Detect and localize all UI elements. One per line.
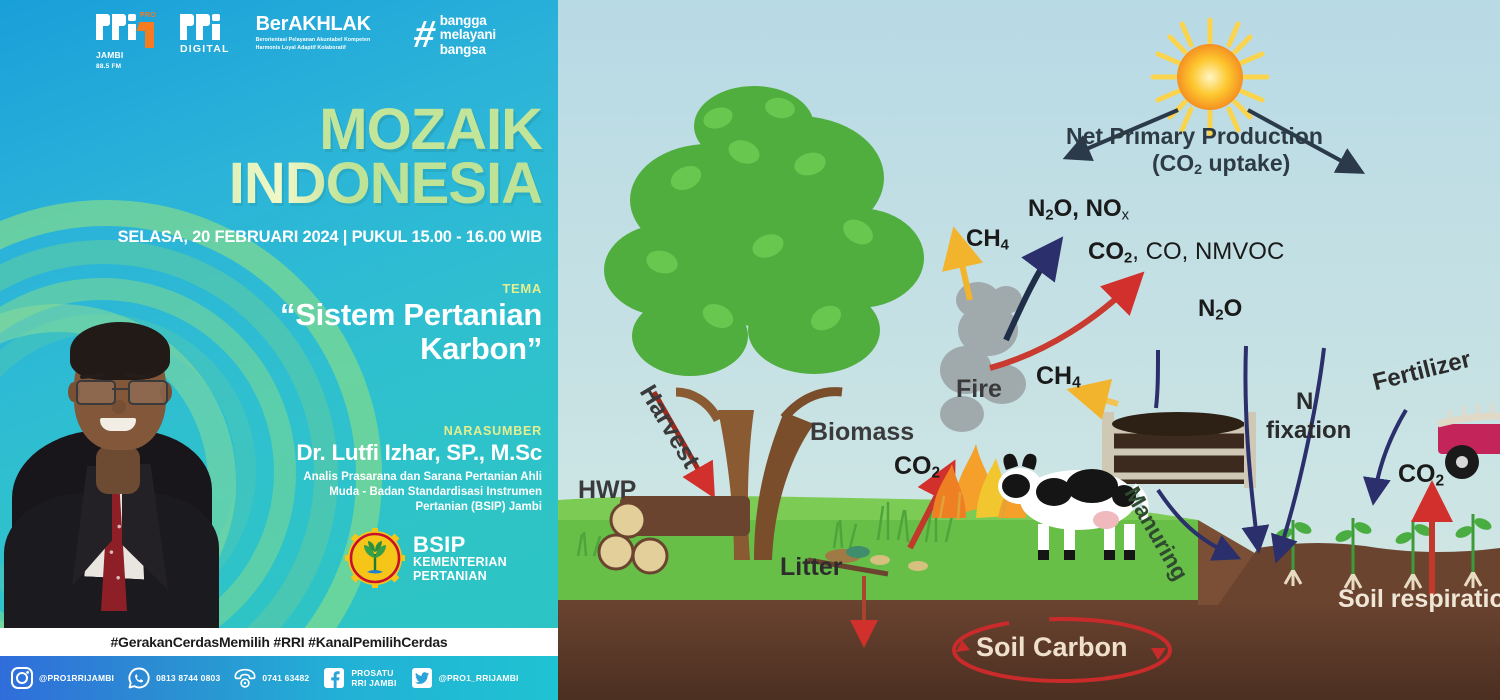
- pro-label: PRO: [140, 12, 156, 19]
- sun-icon: [1153, 20, 1267, 134]
- n2o-nox-label: N2O, NOx: [1028, 195, 1129, 223]
- n2o-right-label: N2O: [1198, 295, 1242, 323]
- co2-soil-label: CO2: [1398, 460, 1444, 490]
- title-line-2: INDONESIA: [0, 157, 542, 211]
- fire-label: Fire: [956, 375, 1002, 404]
- n-fixation-label-line2: fixation: [1266, 417, 1351, 445]
- telephone-icon: [233, 666, 257, 690]
- social-footer: @PRO1RRIJAMBI 0813 8744 0803 0741 63482: [0, 656, 558, 700]
- facebook-icon: [322, 666, 346, 690]
- rri-jambi-city: JAMBI 88.5 FM: [96, 51, 154, 70]
- promo-flyer: PRO JAMBI 88.5 FM DIGITAL: [0, 0, 1500, 700]
- soil-carbon-label: Soil Carbon: [976, 632, 1128, 663]
- twitter-handle: @PRO1_RRIJAMBI: [439, 673, 519, 683]
- carbon-cycle-diagram: Net Primary Production (CO2 uptake) CH4 …: [558, 0, 1500, 700]
- rri-jambi-logo: PRO JAMBI 88.5 FM: [96, 14, 154, 70]
- hwp-label: HWP: [578, 476, 636, 505]
- social-instagram[interactable]: @PRO1RRIJAMBI: [10, 666, 114, 690]
- rri-digital-letter-r2: [196, 14, 209, 40]
- instagram-icon: [10, 666, 34, 690]
- event-poster: PRO JAMBI 88.5 FM DIGITAL: [0, 0, 558, 700]
- soil-respiration-label: Soil respiration: [1338, 585, 1500, 614]
- rri-digital-label: DIGITAL: [180, 43, 230, 55]
- n-fixation-label-line1: N: [1296, 388, 1313, 416]
- social-telephone[interactable]: 0741 63482: [233, 666, 309, 690]
- narasumber-name: Dr. Lutfi Izhar, SP., M.Sc: [150, 440, 542, 466]
- hashtag-band: #GerakanCerdasMemilih #RRI #KanalPemilih…: [0, 628, 558, 656]
- pro-one-mark: PRO: [138, 14, 154, 48]
- bsip-line1: KEMENTERIAN: [413, 556, 507, 570]
- narasumber-role: Analis Prasarana dan Sarana Pertanian Ah…: [180, 470, 542, 516]
- whatsapp-number: 0813 8744 0803: [156, 673, 220, 683]
- npp-label-line1: Net Primary Production: [1066, 123, 1323, 150]
- telephone-number: 0741 63482: [262, 673, 309, 683]
- rri-letter-r2: [112, 14, 125, 40]
- co2-co-nmvoc-label: CO2, CO, NMVOC: [1088, 238, 1284, 266]
- event-datetime: SELASA, 20 FEBRUARI 2024 | PUKUL 15.00 -…: [0, 228, 542, 247]
- rri-letter-i: [128, 14, 136, 40]
- bsip-logo: BSIP KEMENTERIAN PERTANIAN: [345, 528, 507, 588]
- manure-n2o-line: [1156, 350, 1158, 408]
- bsip-line2: PERTANIAN: [413, 570, 507, 584]
- biomass-label: Biomass: [810, 418, 914, 447]
- narasumber-label: NARASUMBER: [444, 424, 542, 438]
- npp-label-line2: (CO2 uptake): [1152, 150, 1290, 178]
- berakhlak-tagline: Berorientasi Pelayanan Akuntabel Kompete…: [256, 37, 406, 52]
- bsip-acronym: BSIP: [413, 533, 507, 557]
- social-whatsapp[interactable]: 0813 8744 0803: [127, 666, 220, 690]
- hash-icon: #: [411, 21, 437, 51]
- facebook-page: PROSATURRI JAMBI: [351, 668, 396, 688]
- rri-jambi-frequency: 88.5 FM: [96, 63, 121, 70]
- ch4-top-label: CH4: [966, 225, 1009, 253]
- twitter-icon: [410, 666, 434, 690]
- rri-digital-logo: DIGITAL: [180, 14, 230, 55]
- title-line-1: MOZAIK: [0, 103, 542, 157]
- rri-letter-r1: [96, 14, 109, 40]
- social-facebook[interactable]: PROSATURRI JAMBI: [322, 666, 396, 690]
- rri-digital-letter-i: [212, 14, 220, 40]
- tema-label: TEMA: [502, 281, 542, 296]
- litter-label: Litter: [780, 553, 843, 582]
- program-title: MOZAIK INDONESIA: [0, 103, 542, 211]
- whatsapp-icon: [127, 666, 151, 690]
- logo-row: PRO JAMBI 88.5 FM DIGITAL: [96, 14, 496, 70]
- manure-bin: [1102, 412, 1256, 488]
- ch4-mid-label: CH4: [1036, 362, 1081, 392]
- co2-biomass-label: CO2: [894, 452, 940, 482]
- bangga-melayani-bangsa-text: bangga melayani bangsa: [440, 14, 496, 57]
- rri-digital-letter-r1: [180, 14, 193, 40]
- berakhlak-wordmark: BerAKHLAK: [256, 14, 406, 34]
- berakhlak-logo: BerAKHLAK Berorientasi Pelayanan Akuntab…: [256, 14, 496, 57]
- bsip-emblem-icon: [345, 528, 405, 588]
- instagram-handle: @PRO1RRIJAMBI: [39, 673, 114, 683]
- social-twitter[interactable]: @PRO1_RRIJAMBI: [410, 666, 519, 690]
- hashtag-text: #GerakanCerdasMemilih #RRI #KanalPemilih…: [110, 634, 447, 650]
- eyeglasses-icon: [74, 380, 166, 402]
